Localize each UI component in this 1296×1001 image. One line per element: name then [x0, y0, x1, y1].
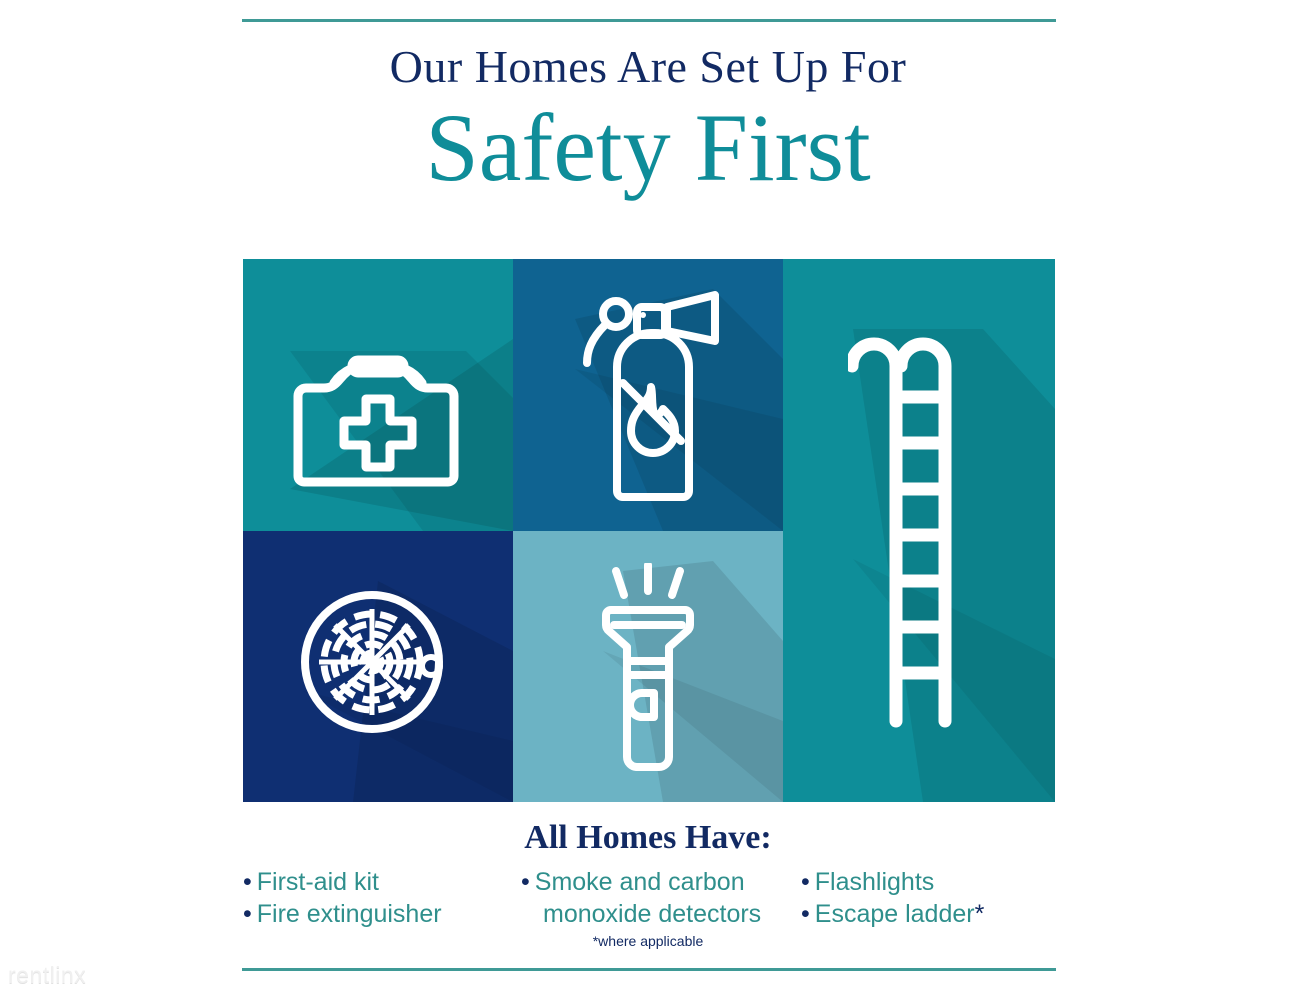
- list-item-label: Flashlights: [815, 868, 935, 896]
- list-item-label: monoxide detectors: [521, 898, 797, 930]
- tile-first-aid-kit: [243, 259, 513, 531]
- top-divider-rule: [242, 19, 1056, 22]
- checklist-column-3: •Flashlights •Escape ladder*: [801, 866, 1055, 930]
- list-item-continuation: monoxide detectors: [521, 898, 797, 930]
- icon-grid: [243, 259, 1055, 802]
- bullet-icon: •: [243, 868, 252, 896]
- checklist-column-1: •First-aid kit •Fire extinguisher: [243, 866, 493, 930]
- safety-first-poster: Our Homes Are Set Up For Safety First: [0, 0, 1296, 1001]
- section-subheading: All Homes Have:: [0, 818, 1296, 858]
- fire-extinguisher-icon: [575, 289, 725, 504]
- escape-ladder-icon: [848, 331, 993, 736]
- tile-escape-ladder: [783, 259, 1055, 802]
- list-item-label: First-aid kit: [257, 868, 379, 896]
- tile-flashlight: [513, 531, 783, 802]
- footnote-marker: *: [975, 900, 985, 928]
- checklist-column-2: •Smoke and carbon monoxide detectors: [521, 866, 797, 930]
- footnote-text: *where applicable: [0, 932, 1296, 950]
- bullet-icon: •: [801, 868, 810, 896]
- rentlinx-watermark: rentlinx: [8, 962, 86, 988]
- tile-fire-extinguisher: [513, 259, 783, 531]
- bullet-icon: •: [521, 868, 530, 896]
- headline-line-1: Our Homes Are Set Up For: [0, 40, 1296, 94]
- list-item: •Fire extinguisher: [243, 898, 493, 930]
- list-item: •Smoke and carbon: [521, 866, 797, 898]
- list-item: •Flashlights: [801, 866, 1055, 898]
- flashlight-icon: [598, 563, 698, 773]
- list-item-label: Escape ladder: [815, 900, 975, 928]
- list-item-label: Smoke and carbon: [535, 868, 745, 896]
- tile-smoke-detector: [243, 531, 513, 802]
- bullet-icon: •: [801, 900, 810, 928]
- list-item: •Escape ladder*: [801, 898, 1055, 930]
- list-item-label: Fire extinguisher: [257, 900, 442, 928]
- first-aid-kit-icon: [290, 351, 466, 489]
- list-item: •First-aid kit: [243, 866, 493, 898]
- headline-line-2: Safety First: [0, 96, 1296, 200]
- bullet-icon: •: [243, 900, 252, 928]
- page-title: Our Homes Are Set Up For Safety First: [0, 40, 1296, 200]
- smoke-detector-icon: [298, 581, 458, 743]
- bottom-divider-rule: [242, 968, 1056, 971]
